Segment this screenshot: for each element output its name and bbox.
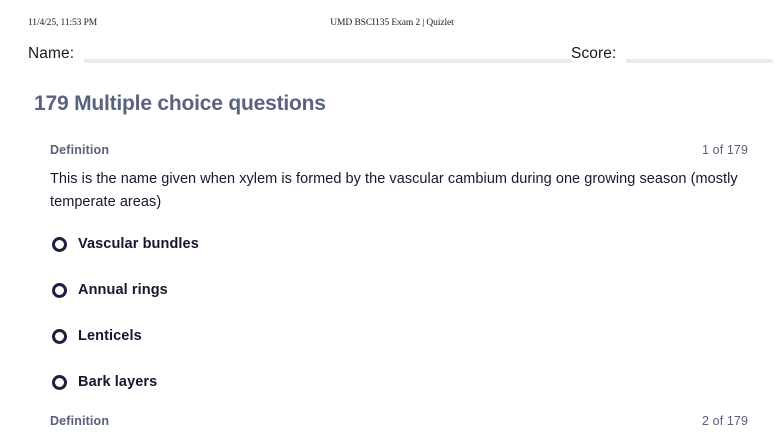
answer-option-label: Lenticels [78,328,142,344]
name-label: Name: [28,44,74,64]
question-block: Definition 1 of 179 This is the name giv… [50,143,748,418]
answer-option-label: Vascular bundles [78,236,199,252]
answer-option-label: Bark layers [78,374,157,390]
question-counter: 1 of 179 [702,143,748,157]
question-counter: 2 of 179 [702,414,748,428]
name-field[interactable]: Name: [28,38,572,64]
print-document-title: UMD BSCI135 Exam 2 | Quizlet [0,18,784,28]
score-field[interactable]: Score: [571,38,773,64]
print-header: 11/4/25, 11:53 PM UMD BSCI135 Exam 2 | Q… [0,18,784,32]
score-write-in-line[interactable] [626,59,773,63]
question-prompt: This is the name given when xylem is for… [50,168,740,214]
answer-option[interactable]: Lenticels [50,326,748,346]
radio-circle-icon[interactable] [52,375,67,390]
radio-circle-icon[interactable] [52,237,67,252]
answer-option-label: Annual rings [78,282,168,298]
answer-option[interactable]: Annual rings [50,280,748,300]
answer-options: Vascular bundles Annual rings Lenticels … [50,234,748,392]
question-kind-label: Definition [50,414,109,428]
radio-circle-icon[interactable] [52,283,67,298]
name-write-in-line[interactable] [84,59,572,63]
radio-circle-icon[interactable] [52,329,67,344]
question-kind-label: Definition [50,143,109,157]
question-meta: Definition 2 of 179 [50,414,748,430]
score-label: Score: [571,44,616,64]
identity-row: Name: Score: [0,38,784,64]
answer-option[interactable]: Bark layers [50,372,748,392]
question-meta: Definition 1 of 179 [50,143,748,159]
answer-option[interactable]: Vascular bundles [50,234,748,254]
question-block: Definition 2 of 179 [50,414,748,430]
page-title: 179 Multiple choice questions [34,92,326,116]
